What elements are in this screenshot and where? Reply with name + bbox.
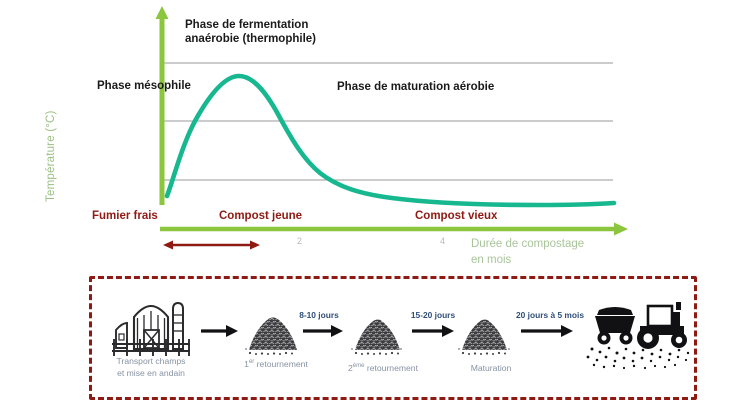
step-label-transport: Transport champset mise en andain [88, 355, 214, 380]
barn-icon [112, 303, 190, 356]
duration-label-3: 20 jours à 5 mois [504, 310, 596, 320]
tractor-spreader-icon [587, 302, 690, 369]
step-label-deuxieme-retournement: 2ème retournement [328, 362, 438, 374]
duration-label-2: 15-20 jours [397, 310, 469, 320]
compost-pile-icon-1 [245, 318, 297, 356]
flow-arrow-2 [303, 325, 343, 337]
flow-arrow-3 [412, 325, 454, 337]
flow-arrow-4 [521, 325, 573, 337]
compost-pile-icon-3 [458, 320, 509, 356]
step-label-premier-retournement: 1er retournement [221, 358, 331, 370]
flow-arrow-1 [201, 325, 238, 337]
duration-label-1: 8-10 jours [288, 310, 350, 320]
ordinal-suffix-eme: ème [353, 363, 365, 369]
step-label-maturation: Maturation [436, 362, 546, 374]
compost-pile-icon-2 [351, 320, 401, 356]
